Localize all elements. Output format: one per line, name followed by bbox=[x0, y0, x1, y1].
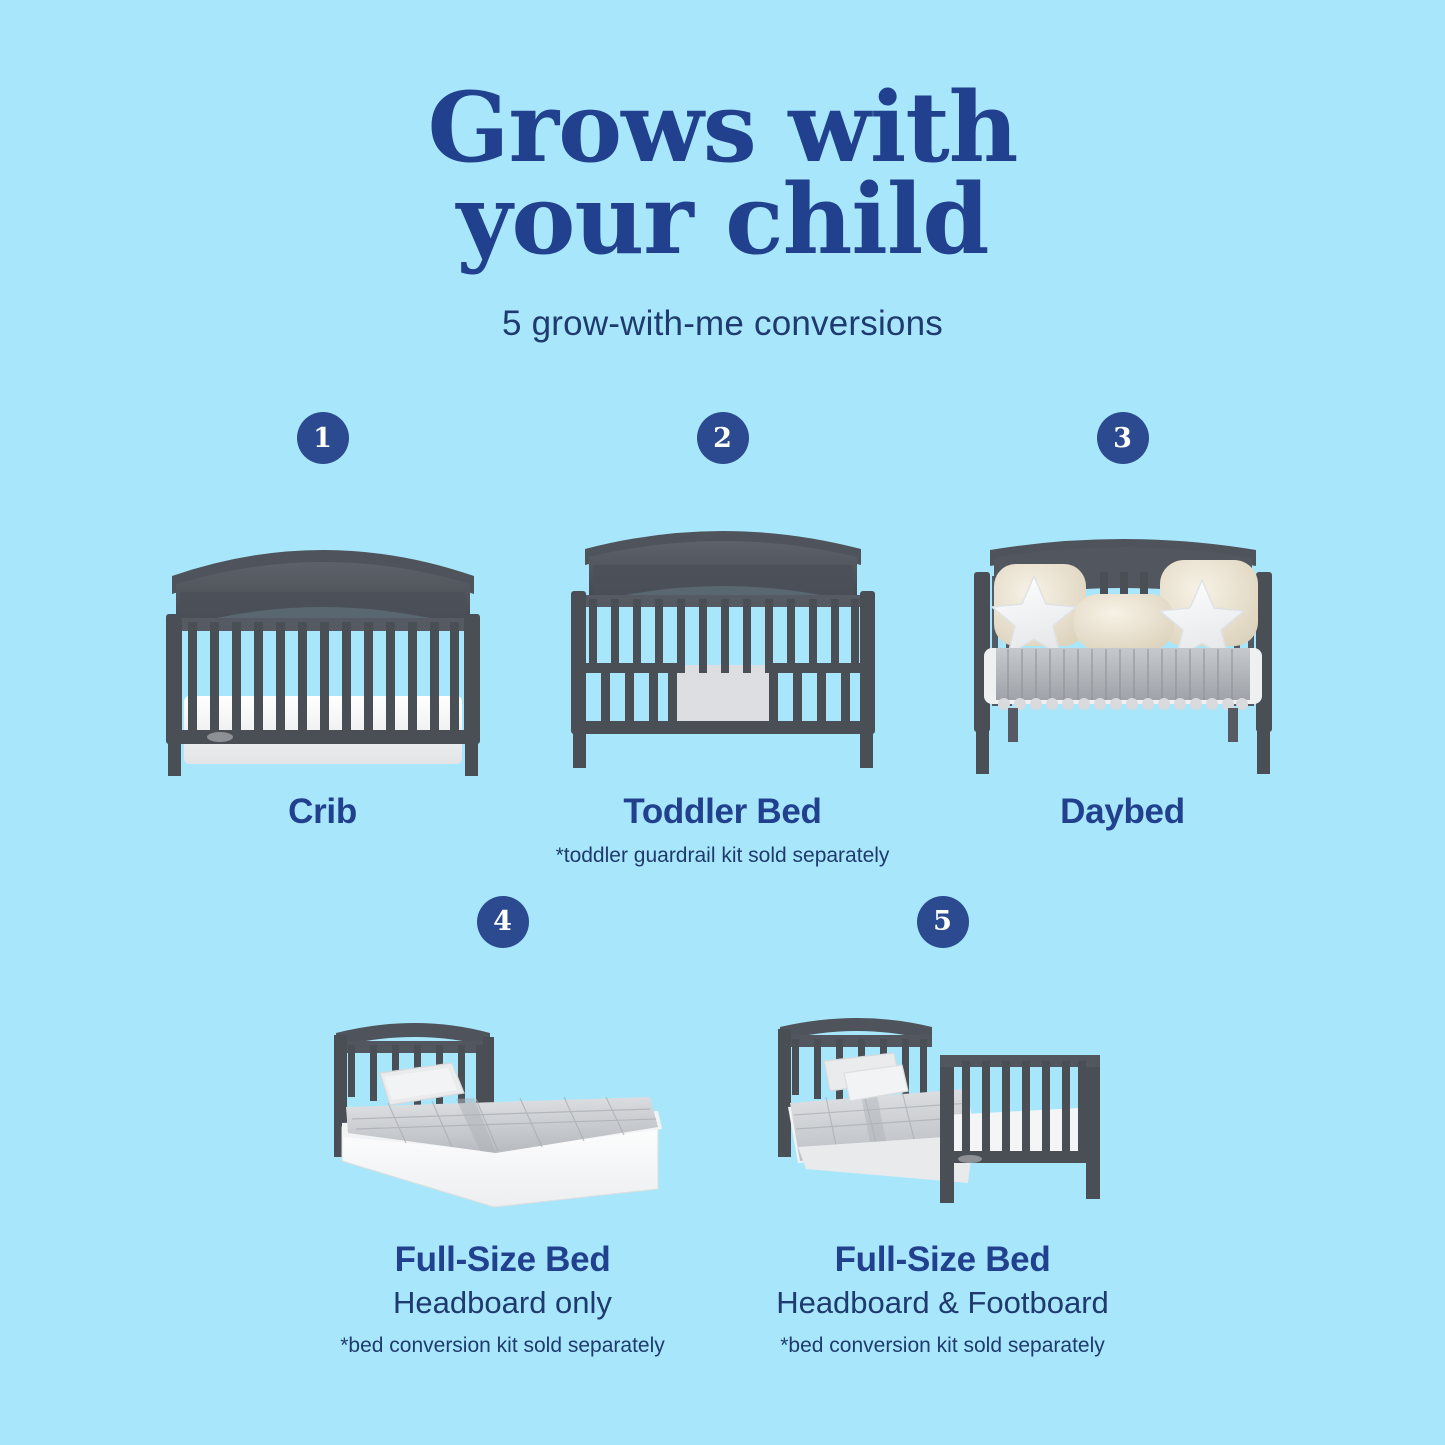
conversion-item-daybed: 3 bbox=[923, 412, 1323, 832]
toddler-bed-icon bbox=[563, 513, 883, 778]
toddler-bed-title: Toddler Bed bbox=[556, 792, 890, 832]
infographic-page: Grows with your child 5 grow-with-me con… bbox=[0, 0, 1445, 1445]
full-bed-headboard-footboard-caption: Full-Size Bed Headboard & Footboard *bed… bbox=[776, 1240, 1109, 1359]
full-bed-headboard-illustration-stage bbox=[283, 976, 723, 1226]
full-bed-headboard-title: Full-Size Bed bbox=[340, 1240, 665, 1280]
daybed-illustration-stage bbox=[923, 488, 1323, 778]
conversion-item-full-bed-headboard-footboard: 5 bbox=[723, 896, 1163, 1359]
full-bed-headboard-footboard-subtitle: Headboard & Footboard bbox=[776, 1284, 1109, 1321]
daybed-icon bbox=[964, 528, 1282, 778]
daybed-caption: Daybed bbox=[1060, 792, 1185, 832]
crib-caption: Crib bbox=[288, 792, 357, 832]
step-badge-4: 4 bbox=[477, 896, 529, 948]
step-badge-5: 5 bbox=[917, 896, 969, 948]
step-badge-2: 2 bbox=[697, 412, 749, 464]
step-badge-1: 1 bbox=[297, 412, 349, 464]
full-bed-headboard-footboard-title: Full-Size Bed bbox=[776, 1240, 1109, 1280]
conversion-row-bottom: 4 bbox=[0, 896, 1445, 1359]
full-bed-headboard-note: *bed conversion kit sold separately bbox=[340, 1333, 665, 1358]
full-size-bed-headboard-footboard-icon bbox=[768, 1011, 1118, 1226]
conversion-item-full-bed-headboard: 4 bbox=[283, 896, 723, 1359]
conversion-item-crib: 1 bbox=[123, 412, 523, 832]
page-title: Grows with your child bbox=[0, 82, 1445, 266]
full-bed-headboard-footboard-note: *bed conversion kit sold separately bbox=[776, 1333, 1109, 1358]
page-title-line-1: Grows with bbox=[0, 82, 1445, 174]
daybed-title: Daybed bbox=[1060, 792, 1185, 832]
toddler-bed-note: *toddler guardrail kit sold separately bbox=[556, 843, 890, 868]
conversion-item-toddler-bed: 2 bbox=[523, 412, 923, 867]
page-subtitle: 5 grow-with-me conversions bbox=[0, 304, 1445, 344]
full-bed-headboard-footboard-illustration-stage bbox=[723, 976, 1163, 1226]
toddler-bed-illustration-stage bbox=[523, 488, 923, 778]
step-badge-3: 3 bbox=[1097, 412, 1149, 464]
toddler-bed-caption: Toddler Bed *toddler guardrail kit sold … bbox=[556, 792, 890, 867]
crib-illustration-stage bbox=[123, 488, 523, 778]
full-bed-headboard-subtitle: Headboard only bbox=[340, 1284, 665, 1321]
crib-icon bbox=[158, 518, 488, 778]
header: Grows with your child 5 grow-with-me con… bbox=[0, 0, 1445, 344]
crib-title: Crib bbox=[288, 792, 357, 832]
page-title-line-2: your child bbox=[0, 174, 1445, 266]
conversion-row-top: 1 bbox=[0, 412, 1445, 867]
full-bed-headboard-caption: Full-Size Bed Headboard only *bed conver… bbox=[340, 1240, 665, 1359]
full-size-bed-headboard-icon bbox=[328, 1011, 678, 1226]
